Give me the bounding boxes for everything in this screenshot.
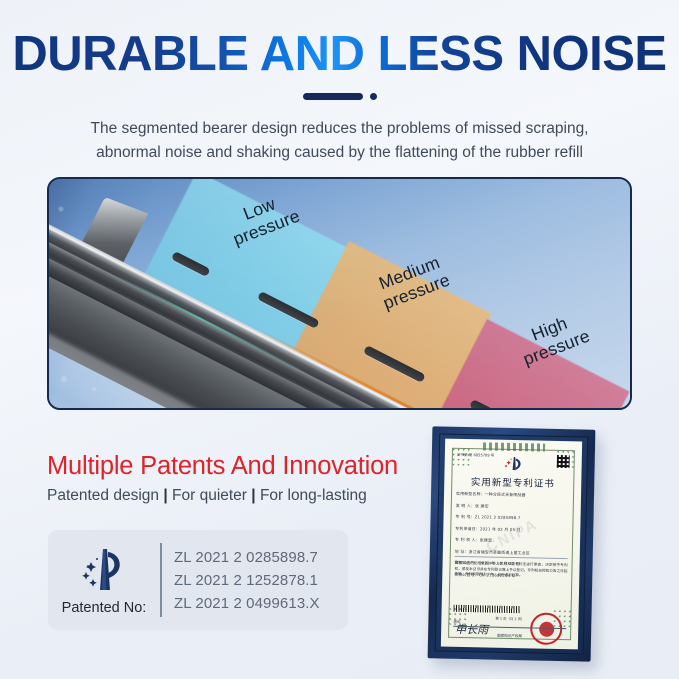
- patent-logo-icon: [48, 544, 160, 596]
- product-image-panel: [47, 177, 632, 410]
- certificate-paper: 证书第 第 6855789 号 实用新型专利证书 CNIPA 实用新型名称：一种…: [441, 439, 582, 650]
- patent-number-list: ZL 2021 2 0285898.7 ZL 2021 2 1252878.1 …: [174, 549, 320, 612]
- certificate-field: 专利申请日：2021 年 02 月 05 日: [455, 525, 568, 533]
- patents-tagline: Patented design | For quieter | For long…: [47, 487, 367, 505]
- certificate-serial: 证书第 第 6855789 号: [457, 453, 495, 459]
- subtitle-line-2: abnormal noise and shaking caused by the…: [0, 141, 679, 165]
- blade-segment-slot: [363, 345, 426, 383]
- patents-heading: Multiple Patents And Innovation: [47, 452, 398, 481]
- patent-number: ZL 2021 2 1252878.1: [174, 572, 320, 589]
- tagline-part-1: Patented design: [47, 487, 159, 504]
- certificate-title: 实用新型专利证书: [444, 474, 581, 491]
- blade-segment-slot: [171, 251, 211, 277]
- certificate-field: 专 利 权 人：张建宏: [455, 537, 568, 545]
- certificate-field: 专 利 号：ZL 2021 2 0285898.7: [455, 514, 568, 522]
- page-title: DURABLE AND LESS NOISE: [0, 26, 679, 82]
- tagline-separator: |: [163, 487, 167, 504]
- certificate-barcode: [454, 605, 520, 613]
- patent-certificate: 证书第 第 6855789 号 实用新型专利证书 CNIPA 实用新型名称：一种…: [428, 426, 596, 661]
- tagline-part-2: For quieter: [172, 487, 247, 504]
- certificate-paragraph: 国家知识产权局依照中华人民共和国专利法进行审查，决定授予专利权，颁发本证书并在专…: [454, 561, 567, 580]
- subtitle-line-1: The segmented bearer design reduces the …: [0, 117, 679, 141]
- wiper-blade: [49, 179, 630, 408]
- divider-dot: [370, 93, 377, 100]
- cnipa-logo-icon: [502, 456, 524, 472]
- patent-number-box: Patented No: ZL 2021 2 0285898.7 ZL 2021…: [48, 530, 348, 630]
- certificate-ornament: [482, 442, 544, 451]
- patent-number: ZL 2021 2 0499613.X: [174, 595, 320, 612]
- title-divider: [0, 93, 679, 100]
- tagline-separator: |: [251, 487, 255, 504]
- tagline-part-3: For long-lasting: [260, 487, 367, 504]
- qr-code-icon: [556, 454, 571, 469]
- page-subtitle: The segmented bearer design reduces the …: [0, 117, 679, 165]
- blade-segment-slot: [257, 291, 320, 329]
- certificate-field: 实用新型名称：一种分段式无骨雨刮器: [456, 491, 569, 499]
- patent-number: ZL 2021 2 0285898.7: [174, 549, 320, 566]
- divider-bar: [303, 93, 363, 100]
- certificate-field: 发 明 人：张 建宏: [456, 502, 569, 510]
- blade-segment-slot: [469, 399, 527, 410]
- patented-no-label: Patented No:: [48, 600, 160, 616]
- patent-box-divider: [160, 543, 162, 617]
- patent-logo-group: Patented No:: [48, 544, 160, 616]
